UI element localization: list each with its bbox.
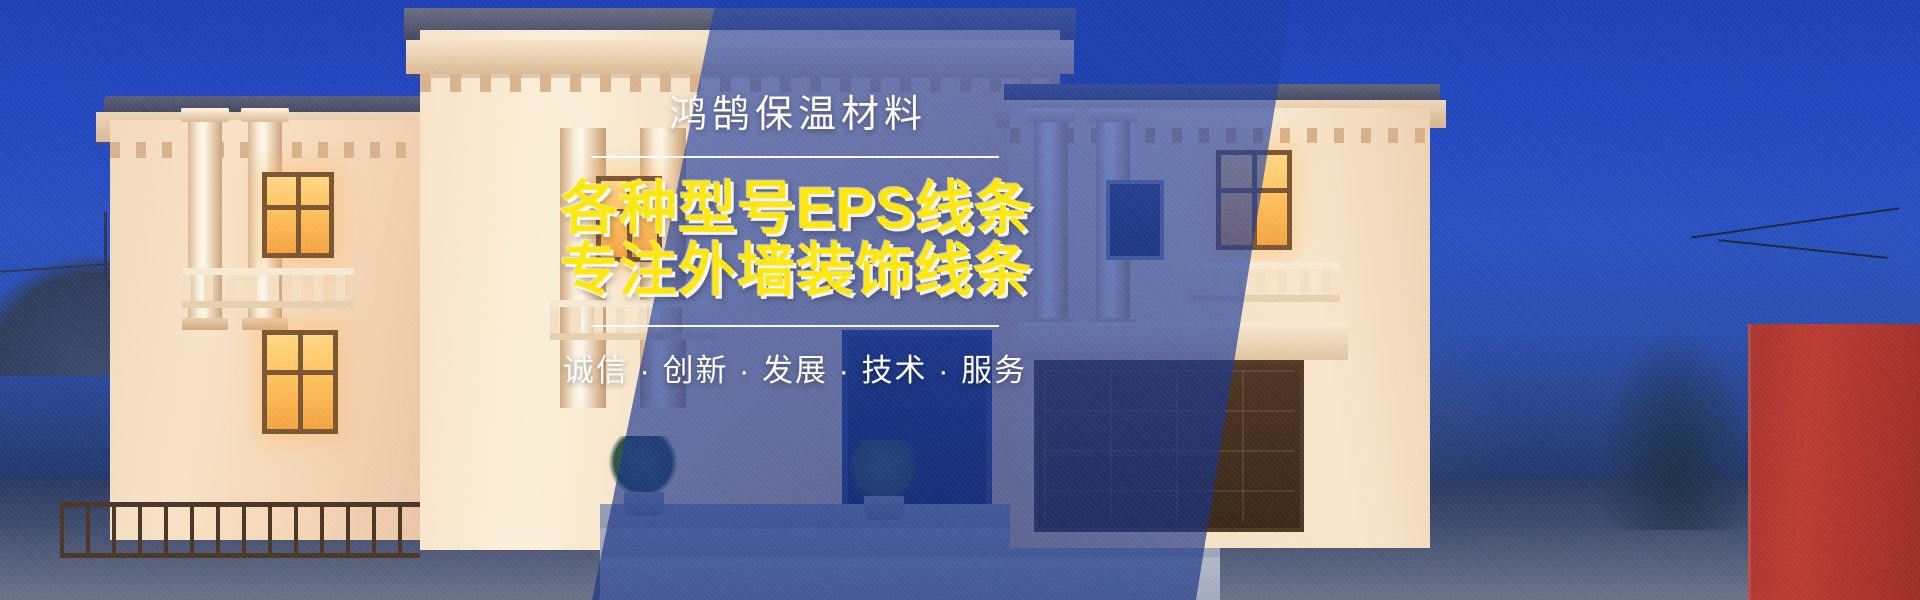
lit-window-left-upper: [262, 172, 334, 258]
headline-line-1: 各种型号EPS线条: [560, 178, 1030, 241]
iron-railing: [60, 502, 420, 558]
antenna-mast: [104, 212, 107, 278]
balustrade-left: [182, 268, 354, 308]
divider-top: [591, 156, 999, 158]
tagline: 诚信 · 创新 · 发展 · 技术 · 服务: [560, 345, 1030, 390]
lit-window-left-lower: [262, 330, 338, 434]
divider-bottom: [591, 325, 999, 327]
hero-banner: 鸿鹄保温材料 各种型号EPS线条 专注外墙装饰线条 诚信 · 创新 · 发展 ·…: [0, 0, 1920, 600]
headline-group: 各种型号EPS线条 专注外墙装饰线条: [560, 178, 1030, 303]
banner-text-block: 鸿鹄保温材料 各种型号EPS线条 专注外墙装饰线条 诚信 · 创新 · 发展 ·…: [560, 92, 1030, 390]
headline-line-2: 专注外墙装饰线条: [560, 240, 1030, 303]
background-tree: [1600, 330, 1750, 530]
red-wall-panel: [1748, 324, 1920, 600]
left-wing-dentils: [110, 142, 470, 158]
brand-subtitle: 鸿鹄保温材料: [560, 92, 1030, 140]
